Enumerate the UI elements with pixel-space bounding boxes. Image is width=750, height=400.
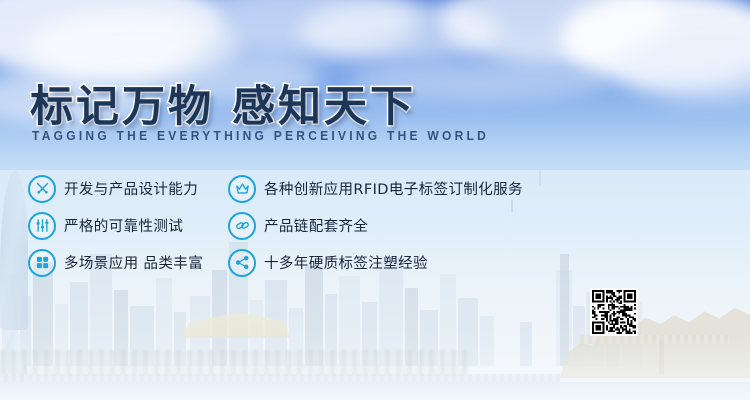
feature-item-design: 开发与产品设计能力: [28, 170, 228, 207]
feature-label: 各种创新应用RFID电子标签订制化服务: [264, 178, 523, 199]
page-subtitle: TAGGING THE EVERYTHING PERCEIVING THE WO…: [32, 129, 489, 143]
feature-label: 开发与产品设计能力: [64, 178, 198, 199]
grid-icon: [28, 249, 56, 277]
link-icon: [228, 212, 256, 240]
feature-label: 严格的可靠性测试: [64, 215, 183, 236]
promo-banner: 标记万物 感知天下 TAGGING THE EVERYTHING PERCEIV…: [0, 0, 750, 400]
feature-item-product-chain: 产品链配套齐全: [228, 207, 588, 244]
feature-row: 严格的可靠性测试 产品链配套齐全: [28, 207, 588, 244]
tools-icon: [28, 175, 56, 203]
feature-label: 多场景应用 品类丰富: [64, 252, 203, 273]
feature-label: 十多年硬质标签注塑经验: [264, 252, 428, 273]
feature-row: 多场景应用 品类丰富 十多年硬质标签注塑经验: [28, 244, 588, 281]
feature-item-multi-scenario: 多场景应用 品类丰富: [28, 244, 228, 281]
qr-code[interactable]: [590, 288, 638, 336]
crown-icon: [228, 175, 256, 203]
page-title: 标记万物 感知天下: [30, 72, 416, 134]
sliders-icon: [28, 212, 56, 240]
feature-item-experience: 十多年硬质标签注塑经验: [228, 244, 588, 281]
feature-item-rfid-service: 各种创新应用RFID电子标签订制化服务: [228, 170, 588, 207]
feature-item-reliability-test: 严格的可靠性测试: [28, 207, 228, 244]
share-icon: [228, 249, 256, 277]
feature-label: 产品链配套齐全: [264, 215, 368, 236]
feature-list: 开发与产品设计能力 各种创新应用RFID电子标签订制化服务: [28, 170, 588, 281]
feature-row: 开发与产品设计能力 各种创新应用RFID电子标签订制化服务: [28, 170, 588, 207]
